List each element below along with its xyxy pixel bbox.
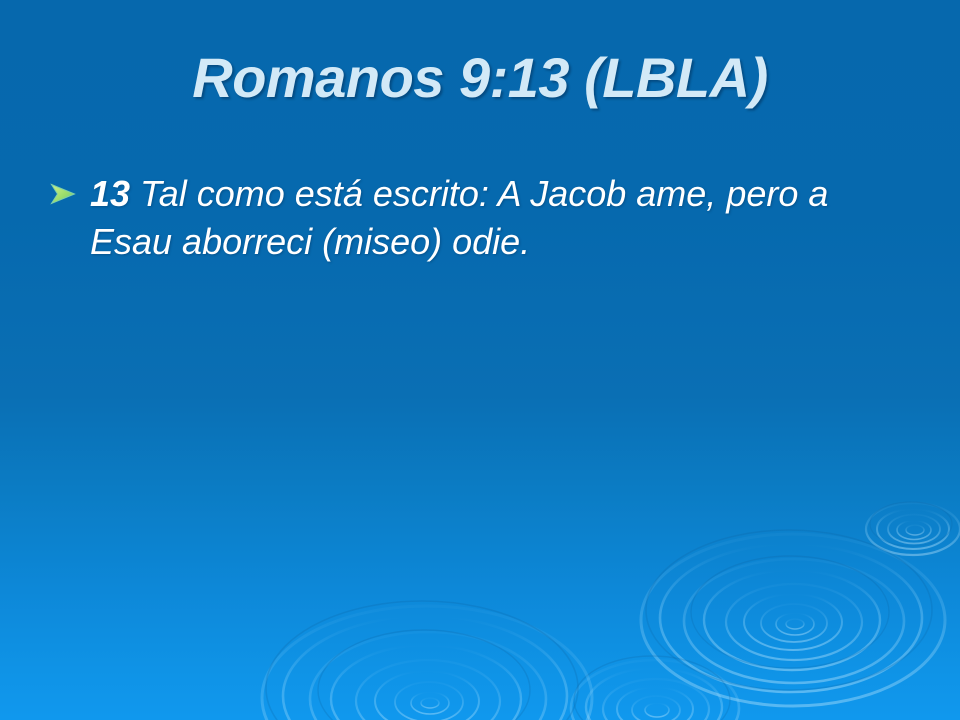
arrow-bullet-icon [48,171,78,217]
list-item[interactable]: 13 Tal como está escrito: A Jacob ame, p… [48,170,918,266]
arrow-bullet-glyph [50,183,76,205]
verse-body-text: Tal como está escrito: A Jacob ame, pero… [90,173,828,262]
ripple-cluster-large-center-right [641,530,945,706]
bullet-text: 13 Tal como está escrito: A Jacob ame, p… [90,170,918,266]
title-placeholder[interactable]: Romanos 9:13 (LBLA) [40,48,920,108]
verse-number: 13 [90,173,130,214]
body-placeholder[interactable]: 13 Tal como está escrito: A Jacob ame, p… [48,170,918,266]
presentation-slide: Romanos 9:13 (LBLA) 13 Tal como es [0,0,960,720]
ripple-cluster-medium-bottom-center [571,656,739,720]
page-title: Romanos 9:13 (LBLA) [40,48,920,108]
ripple-cluster-small-top-right [866,502,960,555]
ripple-cluster-large-bottom-left [262,601,592,720]
